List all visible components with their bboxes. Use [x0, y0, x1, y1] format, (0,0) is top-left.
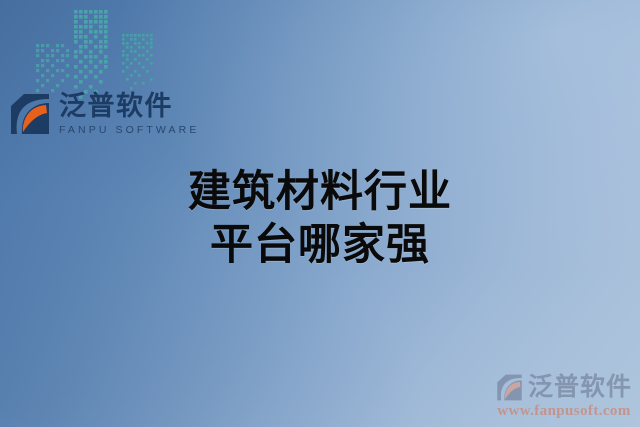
fanpu-logo: 泛普软件 FANPU SOFTWARE [10, 92, 199, 136]
headline-line-1: 建筑材料行业 [0, 166, 640, 219]
fanpu-logo-mark-icon [10, 93, 50, 135]
watermark: 泛普软件 www.fanpusoft.com [496, 374, 632, 421]
watermark-brand-row: 泛普软件 [496, 374, 632, 401]
headline-line-2: 平台哪家强 [0, 219, 640, 272]
fanpu-watermark-mark-icon [496, 374, 523, 401]
watermark-url: www.fanpusoft.com [496, 402, 632, 421]
pixel-skyline-icon [36, 0, 168, 100]
promo-banner: 泛普软件 FANPU SOFTWARE 建筑材料行业 平台哪家强 泛普软件 ww… [0, 0, 640, 427]
headline: 建筑材料行业 平台哪家强 [0, 166, 640, 272]
fanpu-logo-name-cn: 泛普软件 [59, 92, 199, 121]
fanpu-logo-name-en: FANPU SOFTWARE [59, 124, 199, 137]
watermark-name-cn: 泛普软件 [528, 375, 632, 400]
fanpu-logo-text: 泛普软件 FANPU SOFTWARE [59, 92, 199, 136]
